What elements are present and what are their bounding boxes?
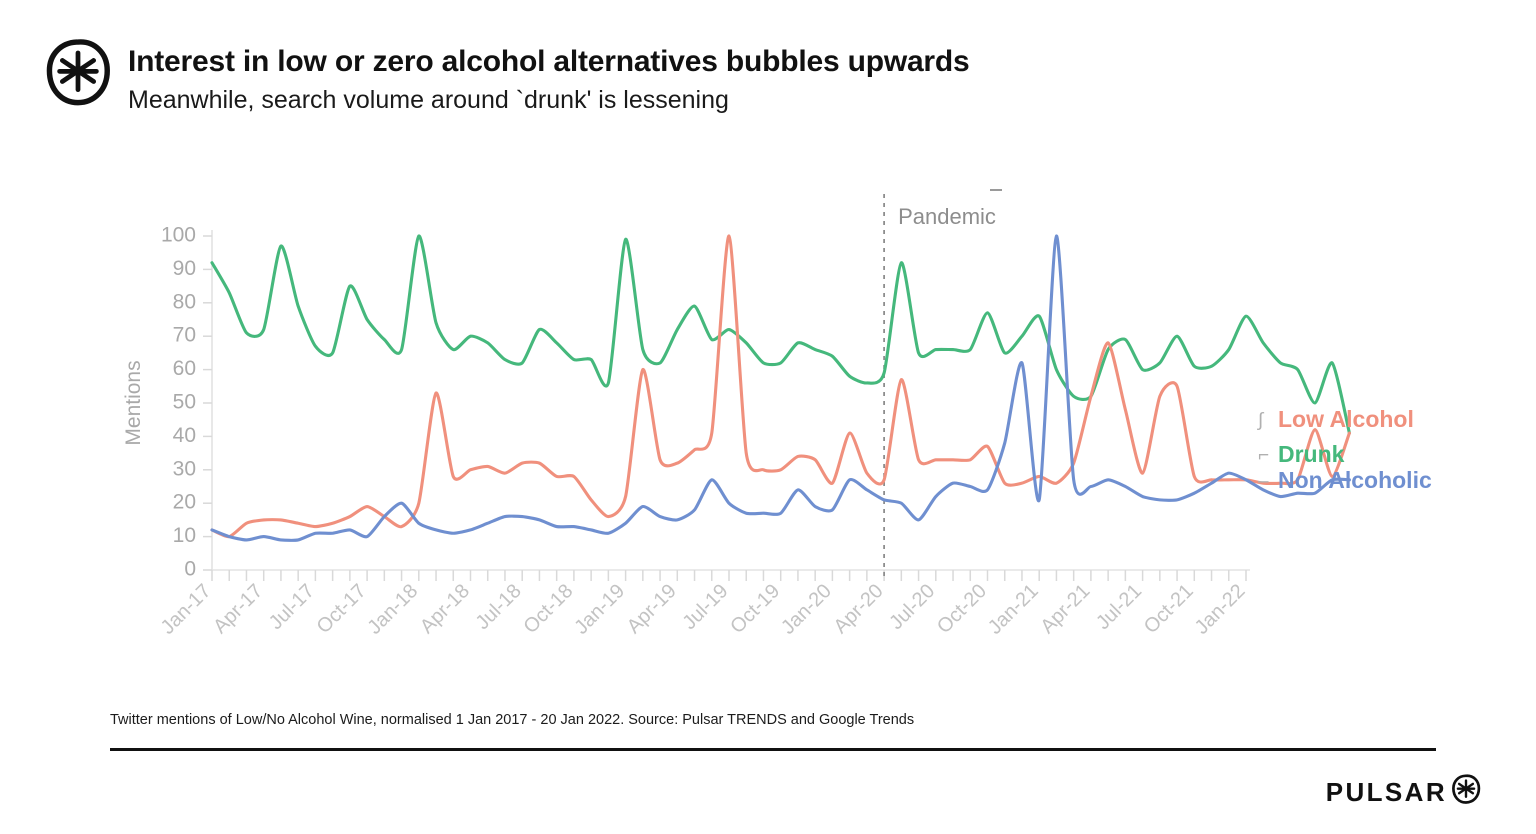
legend-connector-glyph: ∫ <box>1257 410 1265 431</box>
legend-connector-glyph: – <box>1258 471 1269 492</box>
x-tick-label: Jul-18 <box>472 580 526 634</box>
page-title: Interest in low or zero alcohol alternat… <box>128 44 1328 79</box>
x-tick-label: Oct-18 <box>519 580 577 638</box>
x-tick-label: Oct-19 <box>726 580 784 638</box>
x-tick-label: Oct-20 <box>933 580 991 638</box>
x-tick-label: Apr-17 <box>209 580 267 638</box>
series-line-low-alcohol <box>212 236 1349 537</box>
x-tick-label: Jan-18 <box>364 580 423 639</box>
x-tick-label: Apr-19 <box>623 580 681 638</box>
y-tick-label: 70 <box>173 324 196 347</box>
pulsar-asterisk-logo-icon <box>44 38 112 106</box>
brand-lockup: PULSAR <box>1326 779 1481 805</box>
title-block: Interest in low or zero alcohol alternat… <box>128 44 1328 115</box>
x-tick-label: Jan-22 <box>1191 580 1250 639</box>
legend-label-drunk[interactable]: Drunk <box>1278 441 1345 467</box>
y-tick-label: 90 <box>173 257 196 280</box>
x-tick-label: Oct-21 <box>1140 580 1198 638</box>
x-tick-label: Apr-20 <box>830 580 888 638</box>
brand-wordmark: PULSAR <box>1326 779 1447 805</box>
legend-label-low-alcohol[interactable]: Low Alcohol <box>1278 406 1414 432</box>
x-tick-label: Jul-21 <box>1092 580 1146 634</box>
x-tick-label: Jan-20 <box>777 580 836 639</box>
x-tick-label: Jul-19 <box>678 580 732 634</box>
x-tick-label: Apr-21 <box>1036 580 1094 638</box>
y-tick-label: 10 <box>173 524 196 547</box>
y-tick-label: 100 <box>161 224 196 247</box>
y-tick-label: 0 <box>184 558 196 581</box>
footer-divider <box>110 748 1436 751</box>
y-tick-label: 60 <box>173 357 196 380</box>
y-tick-label: 40 <box>173 424 196 447</box>
legend-connector-glyph: ⌐ <box>1258 445 1269 466</box>
legend-label-non-alcoholic[interactable]: Non Alcoholic <box>1278 467 1432 493</box>
chart-container: 0102030405060708090100MentionsJan-17Apr-… <box>0 150 1536 680</box>
y-tick-label: 20 <box>173 491 196 514</box>
x-tick-label: Jul-20 <box>885 580 939 634</box>
y-tick-label: 30 <box>173 457 196 480</box>
pandemic-marker-label: Pandemic <box>898 204 996 229</box>
line-chart: 0102030405060708090100MentionsJan-17Apr-… <box>0 150 1536 680</box>
y-tick-label: 50 <box>173 391 196 414</box>
x-tick-label: Jul-17 <box>265 580 319 634</box>
footnote: Twitter mentions of Low/No Alcohol Wine,… <box>110 712 914 728</box>
page-subtitle: Meanwhile, search volume around `drunk' … <box>128 85 1328 115</box>
y-tick-label: 80 <box>173 290 196 313</box>
x-tick-label: Jan-17 <box>157 580 216 639</box>
pulsar-asterisk-logo-icon <box>1451 774 1481 804</box>
x-tick-label: Jan-21 <box>984 580 1043 639</box>
x-tick-label: Jan-19 <box>570 580 629 639</box>
x-tick-label: Apr-18 <box>416 580 474 638</box>
x-tick-label: Oct-17 <box>313 580 371 638</box>
slide-root: Interest in low or zero alcohol alternat… <box>0 0 1536 834</box>
series-line-drunk <box>212 236 1349 433</box>
y-axis-title: Mentions <box>122 360 145 445</box>
